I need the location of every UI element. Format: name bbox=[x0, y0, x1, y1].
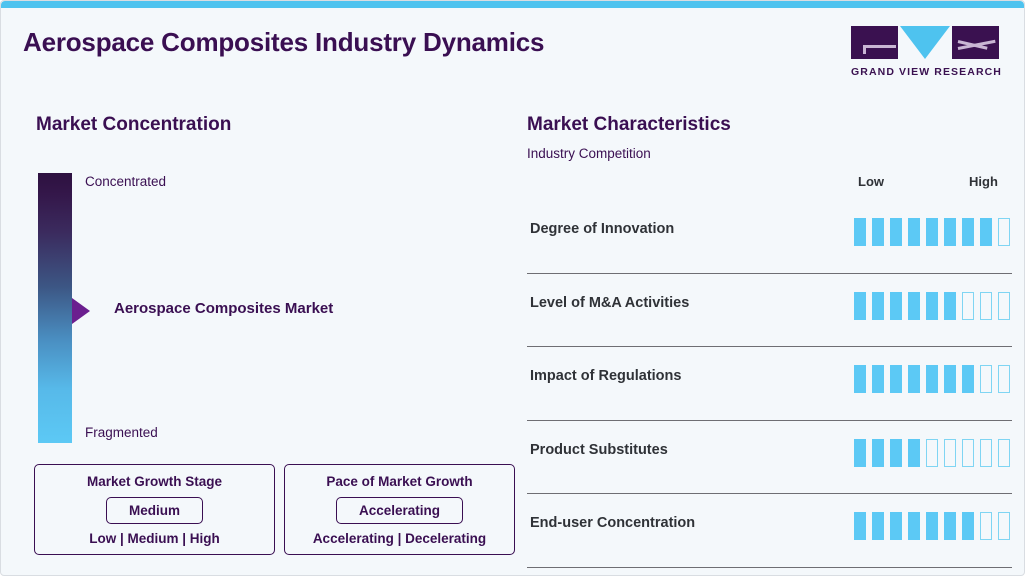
characteristic-row: End-user Concentration bbox=[527, 494, 1012, 568]
rating-tick-filled bbox=[890, 512, 902, 540]
rating-tick-filled bbox=[944, 218, 956, 246]
rating-tick-filled bbox=[854, 512, 866, 540]
rating-tick-filled bbox=[926, 365, 938, 393]
scale-label-concentrated: Concentrated bbox=[85, 174, 166, 189]
pace-of-market-growth-options: Accelerating | Decelerating bbox=[295, 531, 504, 546]
rating-tick-empty bbox=[998, 218, 1010, 246]
rating-tick-empty bbox=[998, 439, 1010, 467]
rating-tick-filled bbox=[890, 292, 902, 320]
rating-tick-filled bbox=[908, 512, 920, 540]
rating-tick-empty bbox=[926, 439, 938, 467]
characteristic-row: Product Substitutes bbox=[527, 421, 1012, 495]
characteristic-row: Level of M&A Activities bbox=[527, 274, 1012, 348]
logo-r-block-icon bbox=[952, 26, 999, 59]
logo-v-triangle-icon bbox=[900, 26, 950, 59]
rating-tick-filled bbox=[890, 365, 902, 393]
market-characteristics-panel: Market Characteristics Industry Competit… bbox=[513, 86, 1025, 576]
characteristic-label: End-user Concentration bbox=[530, 515, 695, 531]
top-accent-bar bbox=[1, 1, 1024, 8]
rating-tick-empty bbox=[962, 439, 974, 467]
scale-label-fragmented: Fragmented bbox=[85, 425, 158, 440]
characteristic-rating-bars bbox=[854, 365, 1010, 393]
rating-tick-empty bbox=[980, 439, 992, 467]
market-concentration-title: Market Concentration bbox=[36, 114, 231, 136]
pace-of-market-growth-box: Pace of Market Growth Accelerating Accel… bbox=[284, 464, 515, 555]
rating-tick-filled bbox=[944, 512, 956, 540]
market-growth-stage-value: Medium bbox=[106, 497, 203, 524]
infographic-root: Aerospace Composites Industry Dynamics G… bbox=[0, 0, 1025, 576]
header: Aerospace Composites Industry Dynamics G… bbox=[1, 8, 1024, 86]
characteristic-row: Degree of Innovation bbox=[527, 200, 1012, 274]
rating-tick-filled bbox=[908, 292, 920, 320]
rating-tick-filled bbox=[944, 292, 956, 320]
characteristic-rating-bars bbox=[854, 218, 1010, 246]
characteristic-label: Level of M&A Activities bbox=[530, 295, 689, 311]
rating-tick-filled bbox=[944, 365, 956, 393]
rating-tick-filled bbox=[872, 439, 884, 467]
characteristic-label: Impact of Regulations bbox=[530, 368, 681, 384]
rating-tick-filled bbox=[872, 292, 884, 320]
rating-tick-filled bbox=[926, 218, 938, 246]
logo-marks bbox=[851, 26, 999, 59]
rating-tick-empty bbox=[980, 512, 992, 540]
rating-tick-filled bbox=[926, 292, 938, 320]
characteristic-label: Product Substitutes bbox=[530, 442, 668, 458]
characteristic-row: Impact of Regulations bbox=[527, 347, 1012, 421]
rating-tick-filled bbox=[872, 365, 884, 393]
rating-tick-empty bbox=[944, 439, 956, 467]
rating-tick-empty bbox=[980, 292, 992, 320]
rating-tick-empty bbox=[998, 512, 1010, 540]
rating-tick-filled bbox=[962, 218, 974, 246]
concentration-scale bbox=[38, 173, 72, 443]
logo-wordmark: GRAND VIEW RESEARCH bbox=[851, 66, 999, 78]
rating-tick-filled bbox=[854, 365, 866, 393]
pace-of-market-growth-title: Pace of Market Growth bbox=[295, 474, 504, 489]
rating-tick-filled bbox=[854, 439, 866, 467]
rating-tick-filled bbox=[962, 365, 974, 393]
rating-tick-filled bbox=[962, 512, 974, 540]
rating-tick-filled bbox=[890, 218, 902, 246]
market-position-marker-icon bbox=[72, 298, 90, 324]
rating-tick-filled bbox=[872, 218, 884, 246]
market-growth-stage-options: Low | Medium | High bbox=[45, 531, 264, 546]
rating-tick-filled bbox=[926, 512, 938, 540]
brand-logo: GRAND VIEW RESEARCH bbox=[851, 26, 999, 78]
pace-of-market-growth-value: Accelerating bbox=[336, 497, 463, 524]
rating-tick-filled bbox=[854, 218, 866, 246]
rating-tick-filled bbox=[908, 439, 920, 467]
characteristic-rating-bars bbox=[854, 292, 1010, 320]
rating-tick-filled bbox=[980, 218, 992, 246]
axis-label-low: Low bbox=[858, 174, 884, 189]
market-growth-stage-title: Market Growth Stage bbox=[45, 474, 264, 489]
axis-label-high: High bbox=[969, 174, 998, 189]
rating-tick-filled bbox=[872, 512, 884, 540]
rating-tick-empty bbox=[998, 365, 1010, 393]
rating-tick-empty bbox=[962, 292, 974, 320]
market-characteristics-subtitle: Industry Competition bbox=[527, 146, 651, 161]
rating-tick-filled bbox=[890, 439, 902, 467]
characteristic-label: Degree of Innovation bbox=[530, 221, 674, 237]
concentration-gradient-bar bbox=[38, 173, 72, 443]
rating-tick-empty bbox=[998, 292, 1010, 320]
rating-tick-filled bbox=[908, 365, 920, 393]
rating-tick-filled bbox=[854, 292, 866, 320]
rating-tick-empty bbox=[980, 365, 992, 393]
page-title: Aerospace Composites Industry Dynamics bbox=[23, 27, 544, 58]
rating-tick-filled bbox=[908, 218, 920, 246]
logo-g-block-icon bbox=[851, 26, 898, 59]
stat-boxes: Market Growth Stage Medium Low | Medium … bbox=[34, 464, 515, 555]
market-concentration-panel: Market Concentration Concentrated Fragme… bbox=[1, 86, 513, 576]
characteristics-rows: Degree of InnovationLevel of M&A Activit… bbox=[527, 200, 1012, 568]
characteristic-rating-bars bbox=[854, 512, 1010, 540]
market-growth-stage-box: Market Growth Stage Medium Low | Medium … bbox=[34, 464, 275, 555]
characteristic-rating-bars bbox=[854, 439, 1010, 467]
market-characteristics-title: Market Characteristics bbox=[527, 114, 731, 136]
market-position-label: Aerospace Composites Market bbox=[114, 300, 333, 317]
